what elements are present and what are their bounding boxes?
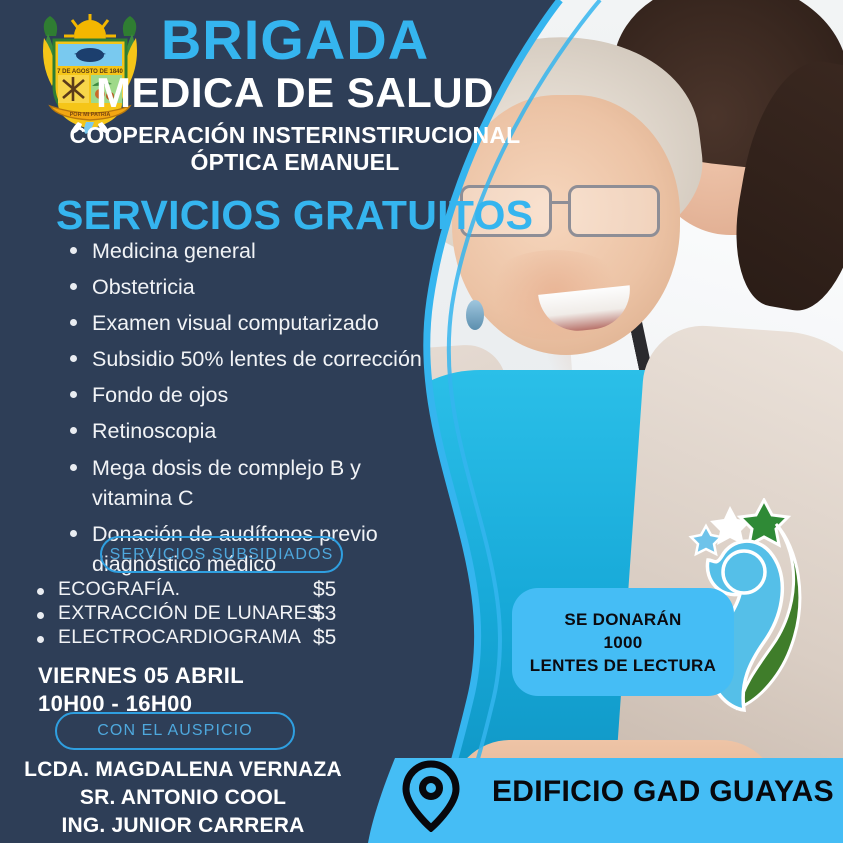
- page-title: BRIGADA: [60, 12, 530, 68]
- list-item: Obstetricia: [62, 272, 442, 302]
- service-name: EXTRACCIÓN DE LUNARES: [58, 602, 320, 625]
- donation-line-2: 1000: [603, 634, 642, 651]
- table-row: ECOGRAFÍA. $5: [28, 578, 358, 601]
- sponsor-name: SR. ANTONIO COOL: [18, 784, 348, 812]
- list-item: Subsidio 50% lentes de corrección: [62, 344, 442, 374]
- donation-line-3: LENTES DE LECTURA: [530, 657, 716, 674]
- poster: 7 DE AGOSTO DE 1840 POR MI PATRIA: [0, 0, 843, 843]
- service-name: ELECTROCARDIOGRAMA: [58, 626, 301, 649]
- sponsor-names: LCDA. MAGDALENA VERNAZA SR. ANTONIO COOL…: [18, 756, 348, 840]
- left-content: 7 DE AGOSTO DE 1840 POR MI PATRIA: [0, 0, 560, 843]
- location-label: EDIFICIO GAD GUAYAS: [492, 775, 834, 809]
- service-price: $3: [313, 602, 336, 626]
- table-row: EXTRACCIÓN DE LUNARES $3: [28, 602, 358, 625]
- donation-badge: SE DONARÁN 1000 LENTES DE LECTURA: [512, 588, 734, 696]
- title-block: BRIGADA MEDICA DE SALUD COOPERACIÓN INST…: [60, 12, 530, 177]
- subsidized-services-pill: SERVICIOS SUBSIDIADOS: [100, 536, 343, 573]
- list-item: Fondo de ojos: [62, 380, 442, 410]
- cooperation-line: COOPERACIÓN INSTERINSTIRUCIONAL: [60, 121, 530, 149]
- list-item: Medicina general: [62, 236, 442, 266]
- free-services-list: Medicina general Obstetricia Examen visu…: [62, 236, 442, 585]
- service-name: ECOGRAFÍA.: [58, 578, 180, 601]
- service-price: $5: [313, 626, 336, 650]
- lens-right: [568, 185, 660, 237]
- sponsor-name: LCDA. MAGDALENA VERNAZA: [18, 756, 348, 784]
- page-subtitle: MEDICA DE SALUD: [60, 70, 530, 115]
- sponsorship-pill: CON EL AUSPICIO: [55, 712, 295, 750]
- sponsor-name: ING. JUNIOR CARRERA: [18, 812, 348, 840]
- list-item: Examen visual computarizado: [62, 308, 442, 338]
- optica-line: ÓPTICA EMANUEL: [60, 149, 530, 177]
- map-pin-icon: [398, 760, 464, 832]
- donation-line-1: SE DONARÁN: [564, 611, 681, 628]
- list-item: Retinoscopia: [62, 416, 442, 446]
- subsidized-services-list: ECOGRAFÍA. $5 EXTRACCIÓN DE LUNARES $3 E…: [28, 578, 358, 650]
- list-item: Mega dosis de complejo B y vitamina C: [62, 453, 442, 513]
- table-row: ELECTROCARDIOGRAMA $5: [28, 626, 358, 649]
- event-date: VIERNES 05 ABRIL: [38, 662, 244, 690]
- free-services-heading: SERVICIOS GRATUITOS: [56, 192, 533, 239]
- service-price: $5: [313, 578, 336, 602]
- schedule-block: VIERNES 05 ABRIL 10H00 - 16H00: [38, 662, 244, 718]
